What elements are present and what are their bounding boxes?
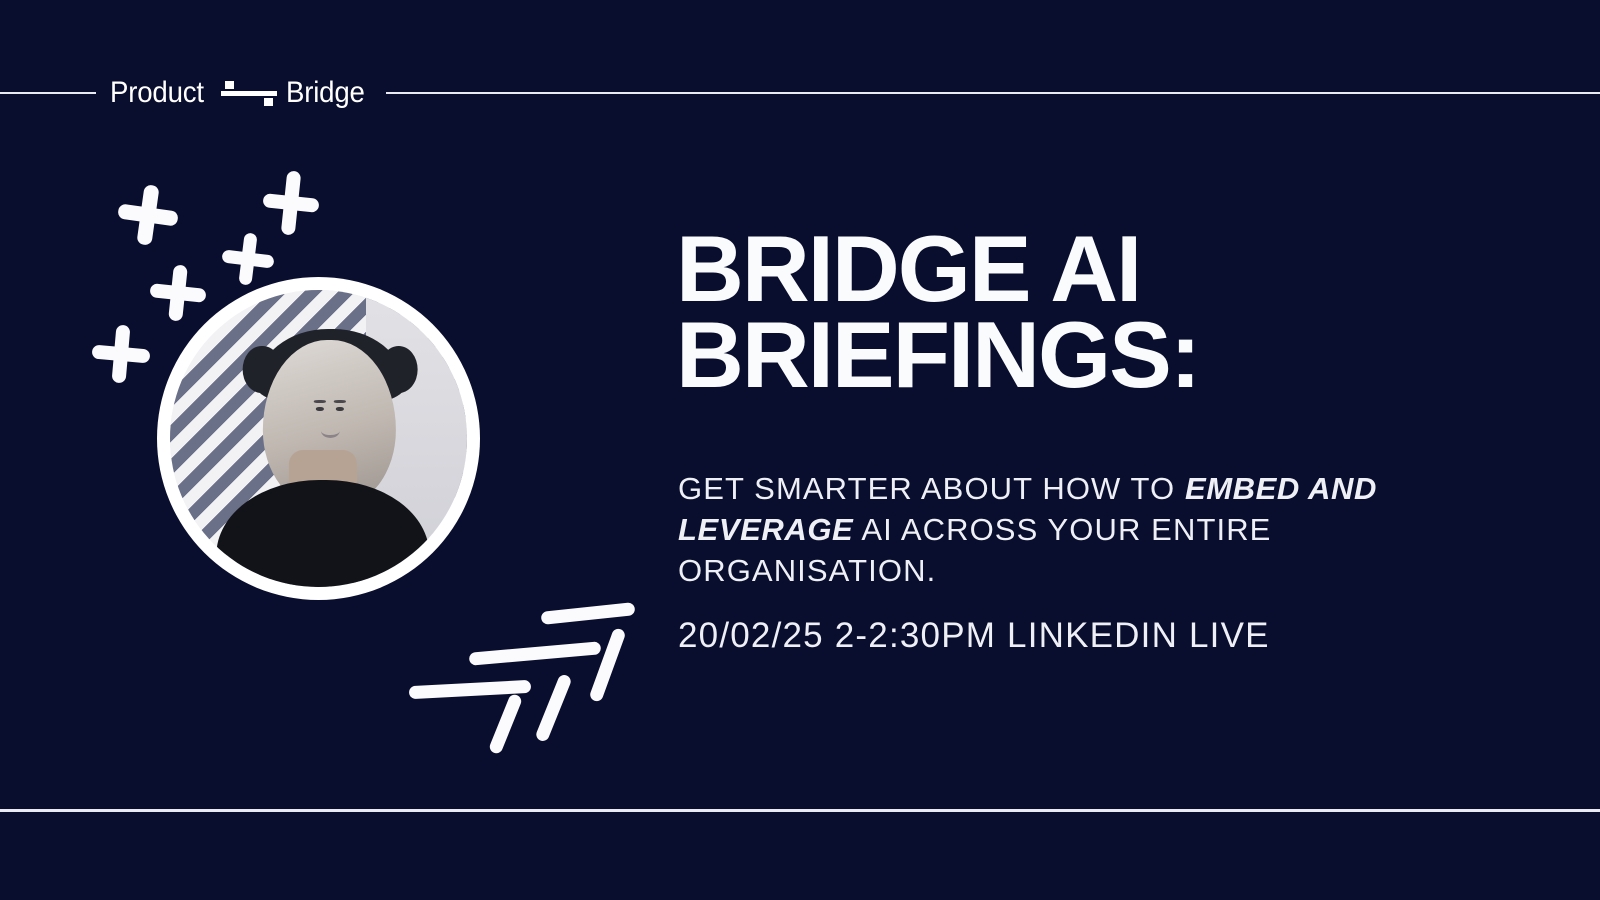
brand-logo[interactable]: Product Bridge: [96, 64, 386, 122]
speed-lines-doodle: [395, 585, 645, 755]
portrait-brow-left: [314, 400, 326, 403]
portrait-eye-left: [316, 407, 324, 411]
portrait-smile: [321, 424, 340, 439]
headline-line-1: BRIDGE AI: [676, 226, 1436, 312]
plus-sparkle-icon: [260, 168, 322, 238]
portrait-image: [170, 290, 467, 587]
plus-sparkle-icon: [90, 323, 153, 386]
speed-line-d3: [588, 627, 626, 703]
subtitle: GET SMARTER ABOUT HOW TO EMBED AND LEVER…: [678, 468, 1518, 592]
plus-sparkle-icon: [114, 181, 182, 249]
subtitle-part-1: GET SMARTER ABOUT HOW TO: [678, 471, 1185, 506]
speed-line-h3: [541, 602, 636, 625]
event-details: 20/02/25 2-2:30PM LINKEDIN LIVE: [678, 615, 1270, 657]
headline-line-2: BRIEFINGS:: [676, 312, 1436, 398]
bridge-mark-square-bottom: [264, 98, 273, 106]
bridge-logo-mark: [221, 78, 277, 108]
brand-word-product: Product: [110, 78, 204, 108]
speaker-portrait: [157, 277, 480, 600]
speed-line-h2: [469, 641, 602, 665]
promo-canvas: Product Bridge: [0, 0, 1600, 900]
bridge-mark-bar: [221, 91, 277, 96]
speed-line-d1: [488, 693, 523, 755]
page-title: BRIDGE AI BRIEFINGS:: [676, 226, 1436, 399]
plus-sparkle-icon: [219, 230, 277, 288]
speed-line-d2: [534, 673, 572, 743]
portrait-brow-right: [334, 400, 346, 403]
portrait-eye-right: [336, 407, 344, 411]
brand-word-bridge: Bridge: [286, 78, 365, 108]
bridge-mark-square-top: [225, 81, 234, 89]
footer-divider: [0, 809, 1600, 812]
